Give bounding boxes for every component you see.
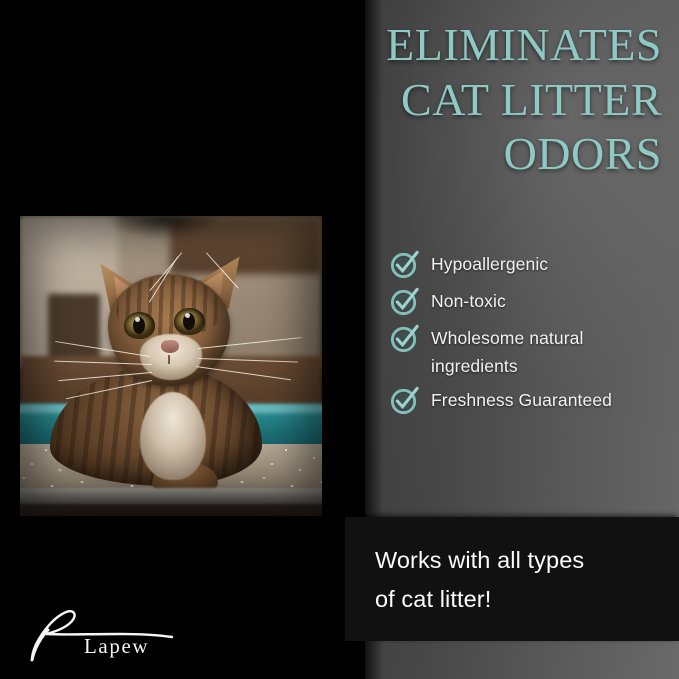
list-item-label: Freshness Guaranteed — [431, 386, 612, 415]
headline-line-3: ODORS — [300, 127, 662, 182]
headline-line-2: CAT LITTER — [300, 73, 662, 128]
product-infographic: ELIMINATES CAT LITTER ODORS Hypoallergen… — [0, 0, 679, 679]
callout-banner-text: Works with all types of cat litter! — [375, 541, 655, 619]
list-item: Wholesome natural ingredients — [389, 324, 669, 380]
list-item-label-line-2: ingredients — [431, 356, 518, 376]
page-title: ELIMINATES CAT LITTER ODORS — [300, 18, 662, 182]
callout-line-1: Works with all types — [375, 547, 584, 573]
list-item: Non-toxic — [389, 287, 669, 318]
brand-logo: Lapew — [24, 604, 194, 666]
circle-check-icon — [389, 385, 420, 416]
photo-vignette — [20, 216, 322, 516]
circle-check-icon — [389, 249, 420, 280]
circle-check-icon — [389, 323, 420, 354]
list-item: Freshness Guaranteed — [389, 386, 669, 417]
list-item-label-line-1: Wholesome natural — [431, 328, 583, 348]
kitten-photo — [20, 216, 322, 516]
circle-check-icon — [389, 286, 420, 317]
list-item: Hypoallergenic — [389, 250, 669, 281]
list-item-label: Wholesome natural ingredients — [431, 324, 583, 380]
brand-wordmark: Lapew — [84, 634, 149, 659]
list-item-label: Hypoallergenic — [431, 250, 548, 279]
callout-line-2: of cat litter! — [375, 586, 491, 612]
feature-list: Hypoallergenic Non-toxic Wh — [389, 250, 669, 423]
callout-banner: Works with all types of cat litter! — [345, 517, 679, 641]
list-item-label: Non-toxic — [431, 287, 506, 316]
headline-line-1: ELIMINATES — [300, 18, 662, 73]
